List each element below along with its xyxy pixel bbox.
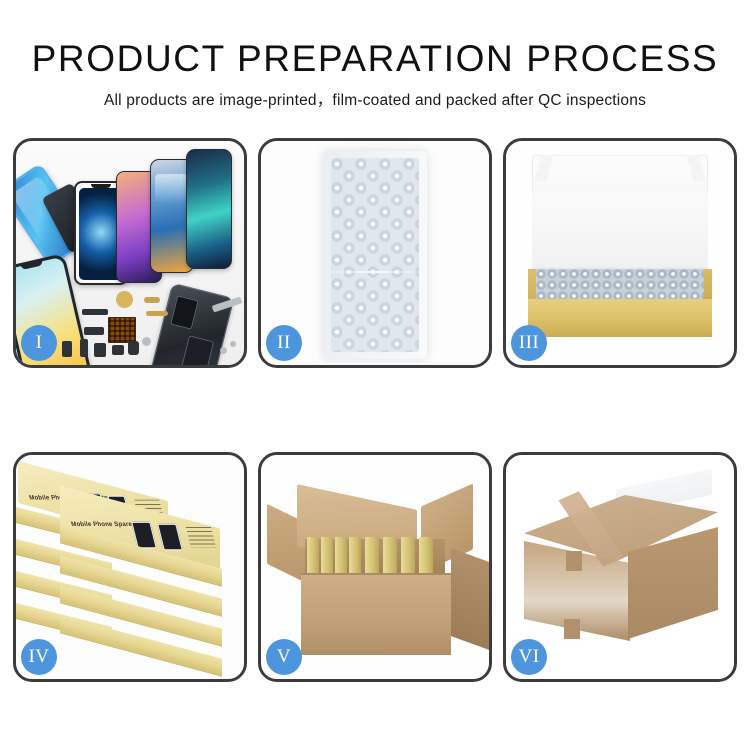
spare-part-icon [116,291,133,308]
step-3-image: III [506,141,734,365]
teal-phone-icon [186,149,232,269]
step-panel-2: II [258,138,492,368]
step-panel-3: III [503,138,737,368]
carton-flap-tab [566,551,582,571]
step-badge-2: II [266,325,302,361]
bubble-wrap-bag-icon [323,151,427,359]
screw-icon [230,341,236,347]
spare-part-icon [128,341,139,355]
step-badge-1: I [21,325,57,361]
spare-part-icon [112,345,124,355]
header: PRODUCT PREPARATION PROCESS All products… [0,0,750,109]
carton-front-face [301,575,451,655]
step-badge-3: III [511,325,547,361]
page-title: PRODUCT PREPARATION PROCESS [0,0,750,77]
box-front-panel [528,299,712,337]
spare-part-icon [62,341,72,357]
carton-side-face [451,548,489,650]
step-panel-5: V [258,452,492,682]
step-2-image: II [261,141,489,365]
spare-part-icon [80,339,88,357]
step-badge-5: V [266,639,302,675]
step-panel-6: VI [503,452,737,682]
page-subtitle: All products are image-printed，film-coat… [0,77,750,109]
spare-part-icon [142,337,151,346]
bubble-texture [331,158,419,352]
bag-seam [329,271,421,273]
process-steps-grid: I II III [13,138,737,682]
spare-part-icon [144,297,160,303]
step-5-image: V [261,455,489,679]
product-preparation-infographic: PRODUCT PREPARATION PROCESS All products… [0,0,750,750]
spare-part-icon [108,317,136,343]
step-badge-4: IV [21,639,57,675]
step-panel-4: Mobile Phone Spare Parts Mobile Phone Sp… [13,452,247,682]
spare-part-icon [82,309,108,315]
carton-flap-tab [564,619,580,639]
foam-insert-icon [532,193,708,267]
step-4-image: Mobile Phone Spare Parts Mobile Phone Sp… [16,455,244,679]
spare-part-icon [146,311,168,316]
step-6-image: VI [506,455,734,679]
spare-part-icon [94,343,106,357]
spare-part-icon [84,327,104,335]
screw-icon [220,347,227,354]
step-panel-1: I [13,138,247,368]
step-badge-6: VI [511,639,547,675]
step-1-image: I [16,141,244,365]
